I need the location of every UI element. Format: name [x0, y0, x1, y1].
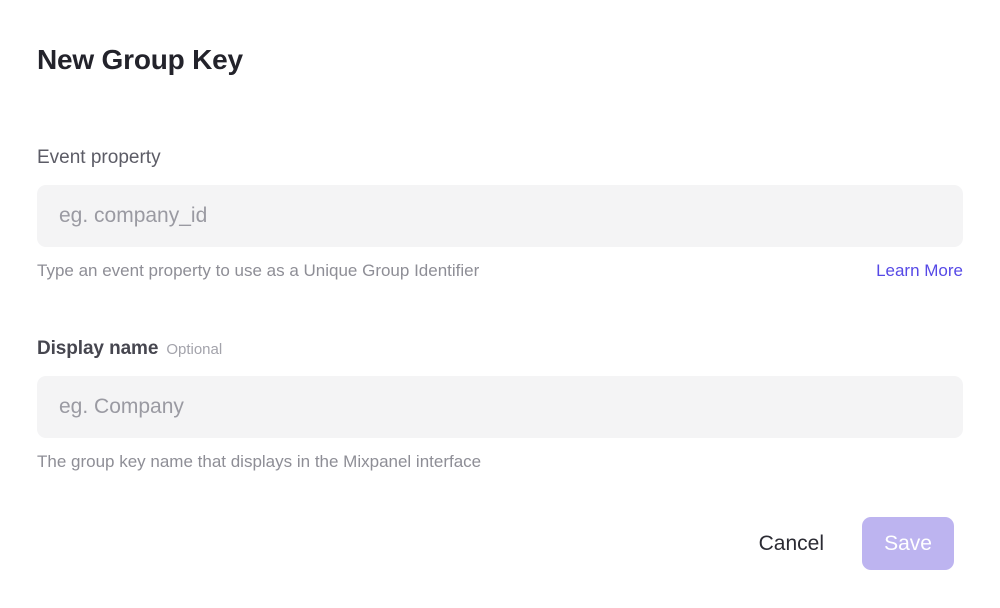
field-event-property: Event property Type an event property to… [37, 145, 963, 282]
modal-footer: Cancel Save [759, 517, 954, 570]
field-label-row: Event property [37, 145, 963, 171]
learn-more-link[interactable]: Learn More [876, 260, 963, 282]
cancel-button[interactable]: Cancel [759, 517, 824, 570]
page-title: New Group Key [37, 40, 243, 80]
save-button[interactable]: Save [862, 517, 954, 570]
display-name-optional-tag: Optional [166, 337, 222, 363]
event-property-input[interactable] [37, 185, 963, 247]
event-property-helper-row: Type an event property to use as a Uniqu… [37, 260, 963, 282]
display-name-helper-row: The group key name that displays in the … [37, 451, 963, 473]
field-display-name: Display name Optional The group key name… [37, 336, 963, 473]
event-property-label: Event property [37, 145, 161, 171]
event-property-helper-text: Type an event property to use as a Uniqu… [37, 260, 479, 282]
field-label-row: Display name Optional [37, 336, 963, 362]
display-name-helper-text: The group key name that displays in the … [37, 451, 481, 473]
display-name-label: Display name [37, 336, 158, 362]
display-name-input[interactable] [37, 376, 963, 438]
new-group-key-modal: New Group Key Event property Type an eve… [0, 0, 1000, 608]
